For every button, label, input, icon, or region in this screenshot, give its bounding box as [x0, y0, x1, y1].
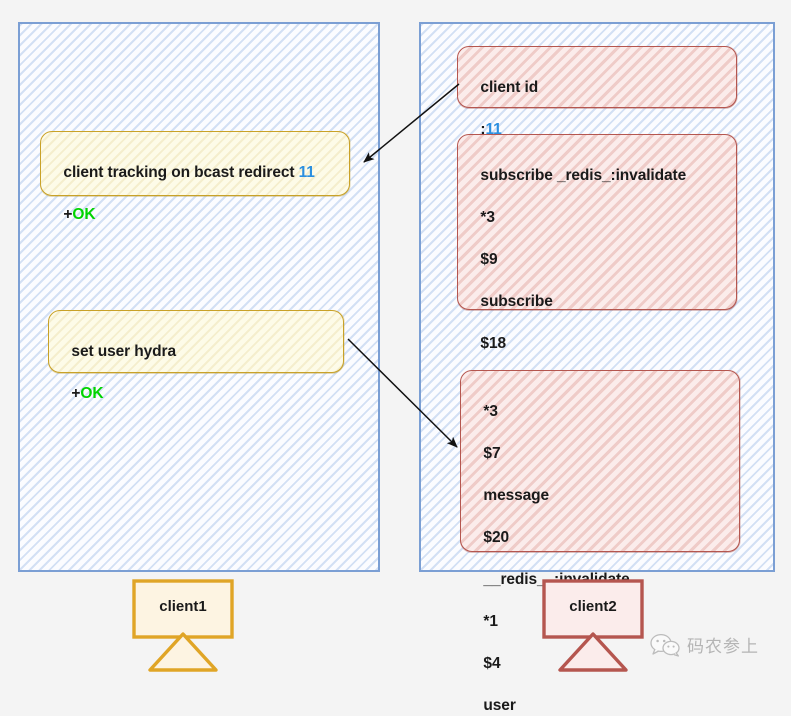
set-user-command-box: set user hydra +OK — [48, 310, 344, 373]
message-line: *3 — [483, 403, 497, 420]
client-id-label: client id — [480, 79, 538, 96]
message-line: $20 — [483, 529, 509, 546]
subscribe-line: $9 — [480, 251, 497, 268]
subscribe-invalidate-reply-box: subscribe _redis_:invalidate *3 $9 subsc… — [457, 134, 737, 310]
wechat-bubbles-icon — [650, 633, 680, 657]
client2-device: client2 — [538, 578, 648, 674]
watermark-text: 码农参上 — [687, 632, 759, 657]
client2-label: client2 — [538, 598, 648, 615]
message-line: message — [483, 487, 549, 504]
message-line: user — [483, 697, 515, 714]
message-line: $4 — [483, 655, 500, 672]
client1-panel — [18, 22, 380, 572]
monitor-icon — [538, 578, 648, 674]
client-tracking-command-text: client tracking on bcast redirect — [63, 164, 298, 181]
monitor-icon — [128, 578, 238, 674]
client-id-reply-box: client id :11 — [457, 46, 737, 108]
subscribe-line: subscribe — [480, 293, 552, 310]
watermark: 码农参上 — [650, 632, 759, 657]
client1-label: client1 — [128, 598, 238, 615]
client1-device: client1 — [128, 578, 238, 674]
message-line: *1 — [483, 613, 497, 630]
client-tracking-command-box: client tracking on bcast redirect 11 +OK — [40, 131, 350, 196]
subscribe-line: subscribe _redis_:invalidate — [480, 167, 686, 184]
set-user-command-text: set user hydra — [71, 343, 176, 360]
subscribe-line: $18 — [480, 335, 506, 352]
invalidation-message-box: *3 $7 message $20 __redis__:invalidate *… — [460, 370, 740, 552]
client-tracking-reply-status: OK — [72, 206, 95, 223]
set-user-reply-status: OK — [80, 385, 103, 402]
message-line: $7 — [483, 445, 500, 462]
client-tracking-redirect-id: 11 — [299, 164, 315, 181]
subscribe-line: *3 — [480, 209, 494, 226]
